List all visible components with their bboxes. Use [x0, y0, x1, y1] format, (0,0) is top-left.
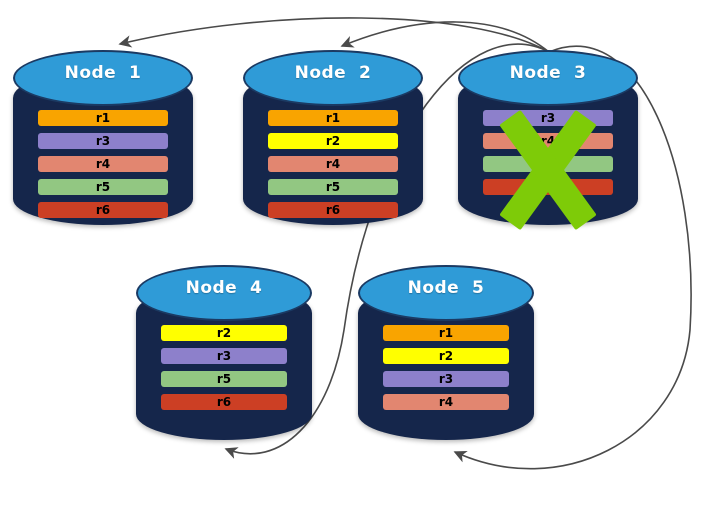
replica-row[interactable]: r3 [161, 348, 288, 364]
replica-row[interactable]: r6 [483, 179, 613, 195]
node-label: Node 1 [13, 63, 193, 83]
replica-row[interactable]: r1 [38, 110, 168, 126]
replica-row[interactable]: r5 [268, 179, 398, 195]
database-node-5[interactable]: Node 5r1r2r3r4 [358, 265, 534, 440]
arrow-node3-to-node1 [120, 18, 549, 52]
replica-row[interactable]: r3 [38, 133, 168, 149]
replica-row[interactable]: r5 [161, 371, 288, 387]
replica-row[interactable]: r4 [483, 133, 613, 149]
node-label: Node 2 [243, 63, 423, 83]
replica-row[interactable]: r2 [383, 348, 510, 364]
replica-list: r1r3r4r5r6 [13, 110, 193, 218]
replica-row[interactable]: r4 [38, 156, 168, 172]
node-label: Node 5 [358, 278, 534, 298]
replica-row[interactable]: r2 [268, 133, 398, 149]
replica-list: r2r3r5r6 [136, 325, 312, 410]
replica-list: r1r2r4r5r6 [243, 110, 423, 218]
replica-list: r1r2r3r4 [358, 325, 534, 410]
replica-row[interactable]: r6 [161, 394, 288, 410]
node-label: Node 4 [136, 278, 312, 298]
database-node-3[interactable]: Node 3r3r4r5r6 [458, 50, 638, 225]
replica-row[interactable]: r3 [383, 371, 510, 387]
replica-row[interactable]: r5 [483, 156, 613, 172]
database-node-4[interactable]: Node 4r2r3r5r6 [136, 265, 312, 440]
replica-row[interactable]: r3 [483, 110, 613, 126]
replica-row[interactable]: r4 [383, 394, 510, 410]
replica-row[interactable]: r6 [38, 202, 168, 218]
replica-row[interactable]: r1 [383, 325, 510, 341]
replica-row[interactable]: r6 [268, 202, 398, 218]
replica-row[interactable]: r5 [38, 179, 168, 195]
diagram-canvas: Node 1r1r3r4r5r6Node 2r1r2r4r5r6Node 3r3… [0, 0, 708, 508]
node-label: Node 3 [458, 63, 638, 83]
database-node-1[interactable]: Node 1r1r3r4r5r6 [13, 50, 193, 225]
database-node-2[interactable]: Node 2r1r2r4r5r6 [243, 50, 423, 225]
replica-row[interactable]: r4 [268, 156, 398, 172]
arrow-node3-to-node2 [342, 22, 549, 52]
replica-row[interactable]: r2 [161, 325, 288, 341]
replica-list: r3r4r5r6 [458, 110, 638, 195]
replica-row[interactable]: r1 [268, 110, 398, 126]
